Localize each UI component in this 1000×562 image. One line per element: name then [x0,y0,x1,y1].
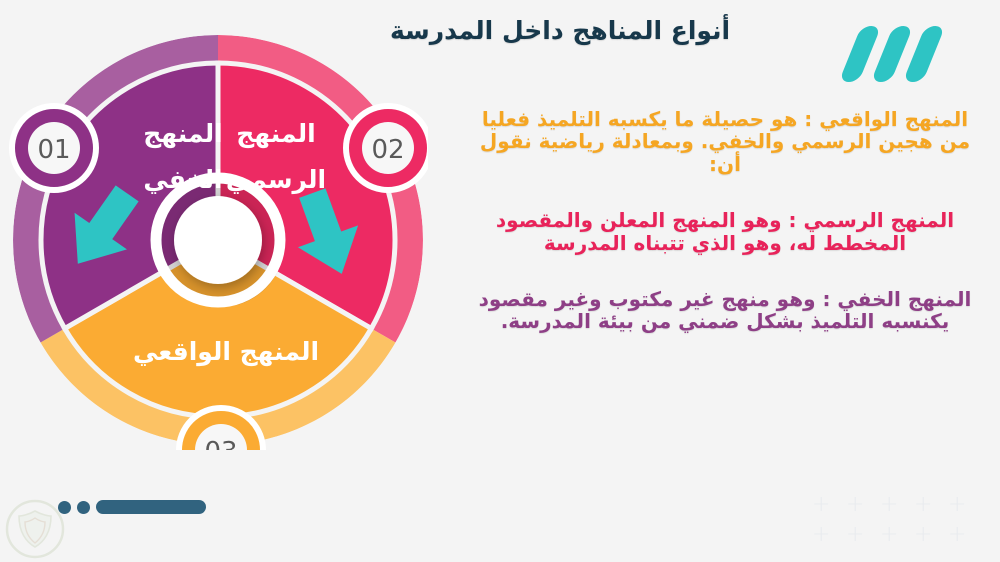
segment-label-hidden-line1: المنهج [143,119,222,149]
segment-label-formal-line1: المنهج [236,119,315,149]
slide-root: أنواع المناهج داخل المدرسة [0,0,1000,562]
pager-dot-2[interactable] [77,501,90,514]
plus-icon: + [948,526,966,544]
three-bars-logo-icon [848,26,952,82]
plus-icon: + [880,526,898,544]
plus-icon: + [914,496,932,514]
badge-01[interactable]: 01 [12,106,96,190]
badge-02-number: 02 [371,135,404,165]
paragraph-real-curriculum: المنهج الواقعي : هو حصيلة ما يكسبه التلم… [470,108,980,175]
pager-progress-bar[interactable] [96,500,206,514]
segment-label-formal-line2: الرسمي [226,165,326,195]
plus-icon: + [846,496,864,514]
badge-01-number: 01 [37,135,70,165]
description-column: المنهج الواقعي : هو حصيلة ما يكسبه التلم… [470,108,980,367]
paragraph-formal-curriculum: المنهج الرسمي : وهو المنهج المعلن والمقص… [470,209,980,254]
slide-pager[interactable] [58,500,206,514]
donut-center-hub [156,178,284,307]
plus-icon: + [914,526,932,544]
curriculum-donut-diagram: المنهج الخفي المنهج الرسمي المنهج الواقع… [2,22,442,492]
badge-03-number: 03 [204,437,237,450]
segment-label-real: المنهج الواقعي [133,337,319,367]
shield-watermark-icon [4,498,66,560]
plus-decoration-grid: ++++++++++ [812,496,992,558]
plus-icon: + [948,496,966,514]
donut-svg: المنهج الخفي المنهج الرسمي المنهج الواقع… [8,30,428,450]
badge-02[interactable]: 02 [346,106,428,190]
paragraph-hidden-curriculum: المنهج الخفي : وهو منهج غير مكتوب وغير م… [470,288,980,333]
segment-label-hidden-line2: الخفي [143,165,222,194]
plus-icon: + [812,526,830,544]
plus-icon: + [880,496,898,514]
plus-icon: + [812,496,830,514]
plus-icon: + [846,526,864,544]
